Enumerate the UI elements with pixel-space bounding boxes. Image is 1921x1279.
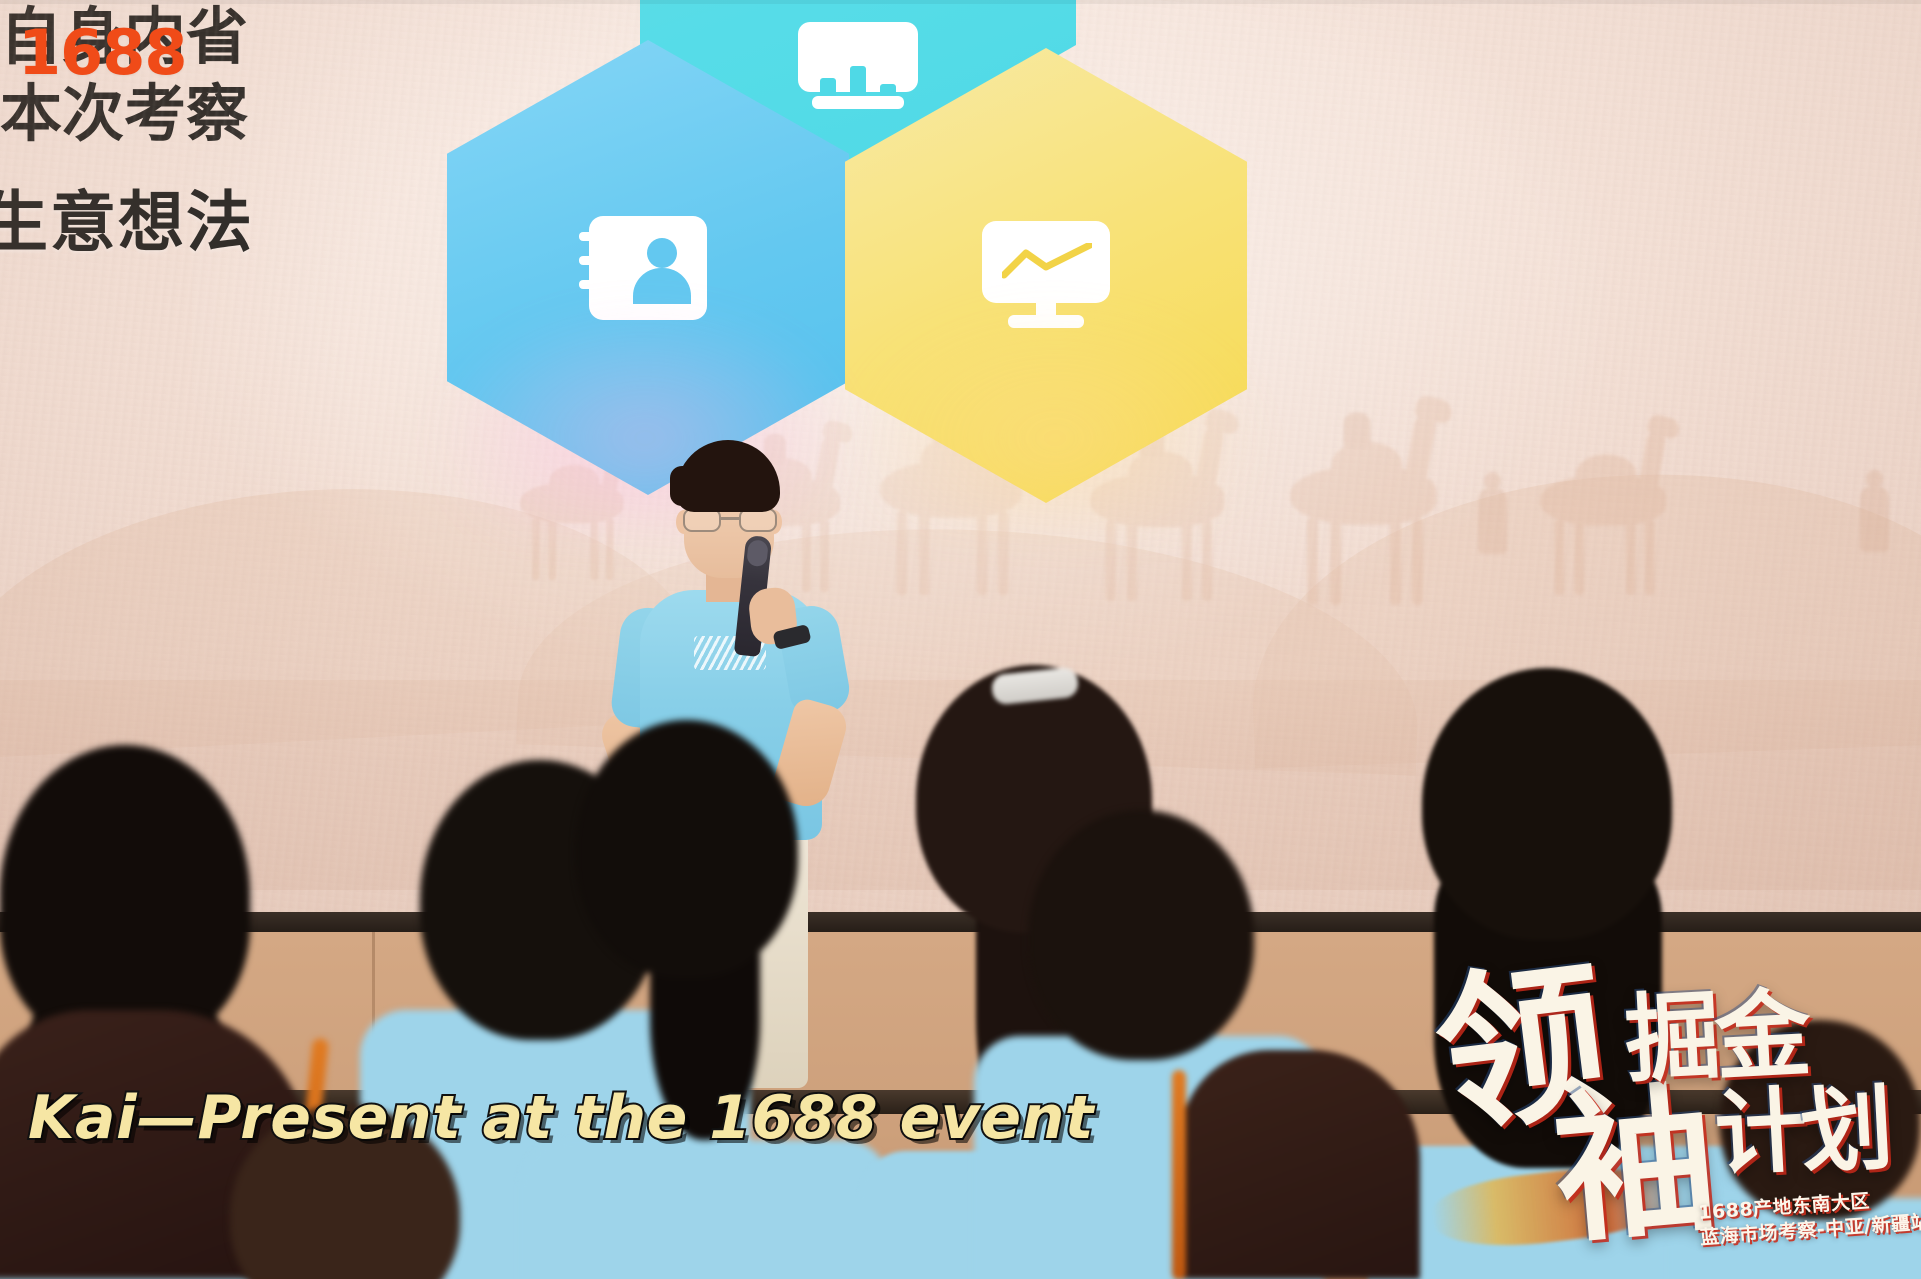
audience-member xyxy=(1700,1020,1921,1279)
chair xyxy=(1180,1050,1420,1279)
frame-edge xyxy=(0,0,1921,4)
presenter-hair xyxy=(676,440,780,512)
video-frame: 生意想法 自身内省 本次考察 1688 囲 → xyxy=(0,0,1921,1279)
subtitle-caption: Kai—Present at the 1688 event xyxy=(28,1083,1094,1153)
audience-member xyxy=(540,720,850,1279)
logo-1688: 1688 xyxy=(18,16,187,89)
audience-member xyxy=(1378,668,1728,1279)
